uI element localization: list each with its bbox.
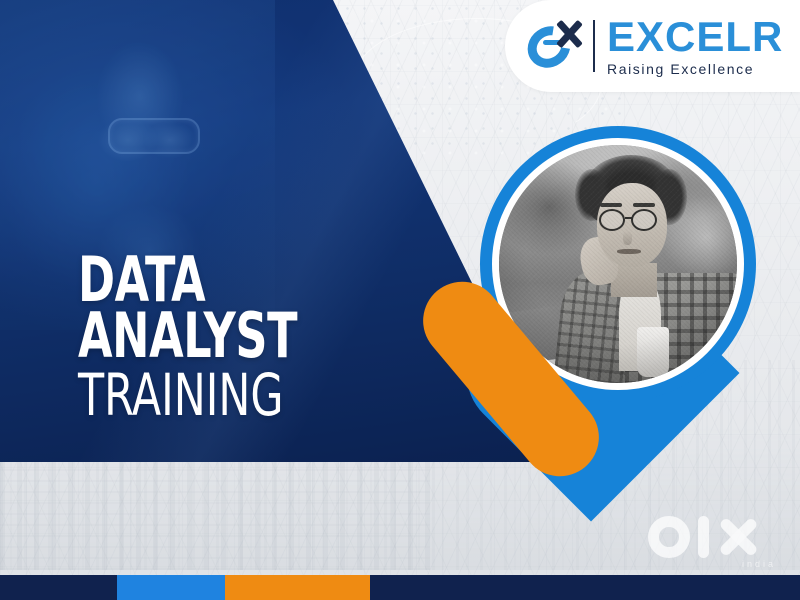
bottom-bar-segment-orange-accent	[225, 575, 370, 600]
bottom-bar-segment-blue-accent	[117, 575, 225, 600]
logo-text-block: EXCELR Raising Excellence	[607, 16, 783, 77]
bottom-bar-segment-navy-right	[370, 575, 800, 600]
headline-block: DATA ANALYST TRAINING	[78, 252, 408, 425]
excelr-monogram-icon	[527, 20, 587, 72]
logo-x-mark	[555, 20, 583, 48]
logo-divider	[593, 20, 595, 72]
headline-line-2: ANALYST	[78, 308, 342, 364]
promo-banner: DATA ANALYST TRAINING	[0, 0, 800, 600]
logo-tagline: Raising Excellence	[607, 61, 783, 77]
olx-letter-l	[698, 516, 709, 558]
bottom-bar-segment-navy-left	[0, 575, 117, 600]
logo-brand-name: EXCELR	[607, 16, 783, 58]
excelr-logo-panel[interactable]: EXCELR Raising Excellence	[505, 0, 800, 92]
olx-region-label: india	[742, 559, 776, 569]
olx-watermark: india	[648, 506, 780, 568]
olx-letter-o	[648, 516, 690, 558]
headline-line-3: TRAINING	[78, 366, 349, 425]
bottom-color-bar	[0, 575, 800, 600]
olx-letter-x	[717, 516, 759, 558]
